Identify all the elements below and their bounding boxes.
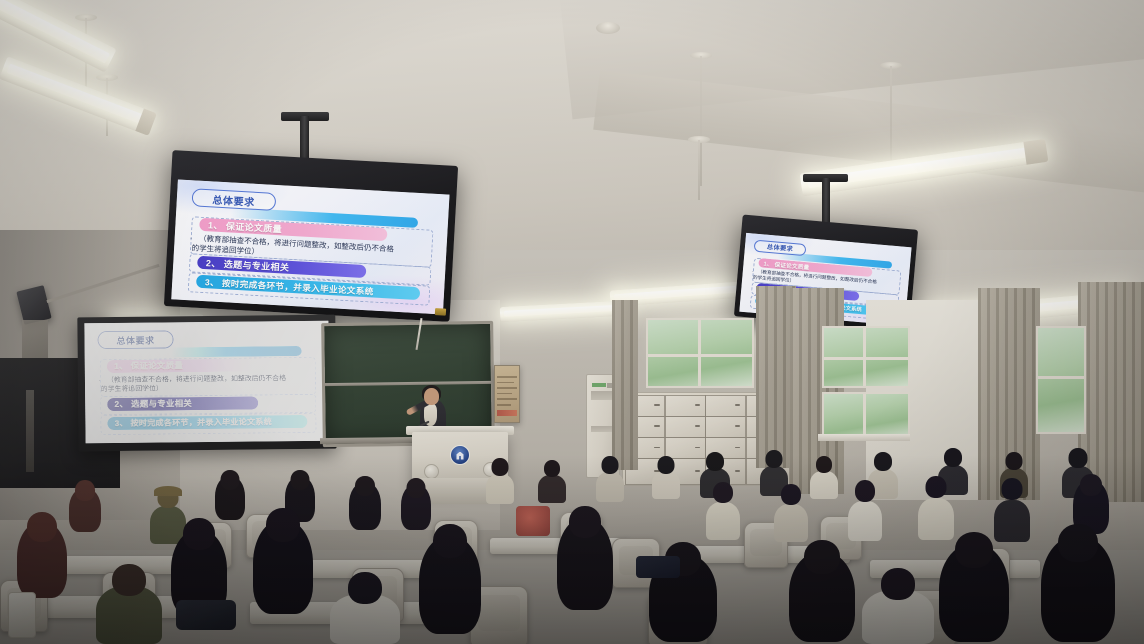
student-seated: [652, 456, 680, 498]
ac-badge: [592, 383, 605, 387]
student-seated-front: [938, 532, 1010, 644]
slide-item-2: 2、 选题与专业相关: [107, 396, 258, 410]
light-endcap: [1023, 139, 1048, 165]
slide-item-3-num: 3、: [205, 276, 220, 289]
lecture-hall-photo: 总体要求 1、 保证论文质量 · （教育部抽查不合格，将进行问题整改，如整改后仍…: [0, 0, 1144, 644]
student-seated: [348, 476, 382, 534]
student-seated: [918, 476, 954, 538]
student-seated-front: [788, 540, 856, 644]
slide-bullet: ·: [98, 376, 100, 385]
slide-item-1-num: 1、: [208, 218, 223, 232]
student-seated: [706, 482, 740, 540]
student-seated-front: [1040, 524, 1116, 644]
student-seated: [68, 480, 102, 538]
water-bottle: [8, 592, 36, 638]
locker-door[interactable]: [705, 395, 746, 417]
university-emblem-icon: [450, 445, 470, 465]
light-rod: [890, 66, 892, 164]
student-seated: [848, 480, 882, 540]
locker-door[interactable]: [705, 416, 746, 438]
slide-item-2-num: 2、: [206, 256, 221, 270]
door-handle: [26, 390, 34, 472]
student-seated-front: [862, 568, 934, 644]
slide-item-1-num: 1、: [114, 360, 128, 372]
smoke-detector-icon: [596, 22, 620, 34]
student-cap: [154, 486, 182, 496]
student-seated-front: [330, 572, 400, 644]
projected-slide: 总体要求 1、 保证论文质量 · （教育部抽查不合格，将进行问题整改，如整改后仍…: [84, 321, 329, 444]
wall-notice-poster: [494, 365, 520, 423]
slide-body: · （教育部抽查不合格，将进行问题整改，如整改后仍不合格 的学生将追回学位）: [107, 374, 317, 395]
light-rod: [698, 140, 700, 200]
slide-item-1-text: 保证论文质量: [131, 360, 183, 373]
classroom-window: [1036, 326, 1086, 434]
slide-item-2-num: 2、: [114, 398, 128, 410]
student-seated: [994, 478, 1030, 540]
student-bag: [636, 556, 680, 578]
student-seated: [538, 460, 566, 502]
projection-screen: 总体要求 1、 保证论文质量 · （教育部抽查不合格，将进行问题整改，如整改后仍…: [77, 315, 336, 452]
light-rod: [700, 56, 702, 186]
slide-item-3: 3、 按时完成各环节，并录入毕业论文系统: [107, 415, 307, 430]
tv-screen: 总体要求 1、 保证论文质量 · （教育部抽查不合格，将进行问题整改，如整改后仍…: [171, 179, 449, 314]
student-seated: [810, 456, 838, 498]
slide-item-3-num: 3、: [115, 418, 128, 429]
window-curtain: [612, 300, 638, 470]
poster-red-band: [497, 410, 517, 416]
student-seated-front: [252, 508, 314, 620]
tv-brand-logo: [435, 308, 446, 316]
student-seated-front: [556, 506, 614, 616]
student-seated-front: [418, 524, 482, 640]
lecturer-head: [424, 388, 439, 405]
chalkboard-divider: [325, 380, 491, 385]
student-bag: [176, 600, 236, 630]
student-shirt-graphic: [516, 506, 550, 536]
slide-item-1: 1、 保证论文质量: [107, 358, 275, 372]
slide-item-2-text: 选题与专业相关: [131, 397, 192, 410]
classroom-window: [822, 392, 910, 438]
classroom-window: [822, 326, 910, 388]
fluorescent-tube: [503, 305, 614, 317]
locker-door[interactable]: [665, 395, 706, 417]
projection-surface: 总体要求 1、 保证论文质量 · （教育部抽查不合格，将进行问题整改，如整改后仍…: [84, 321, 329, 444]
window-sill: [818, 434, 910, 441]
presentation-slide: 总体要求 1、 保证论文质量 · （教育部抽查不合格，将进行问题整改，如整改后仍…: [171, 179, 449, 314]
fluorescent-tube: [614, 286, 738, 301]
locker-door[interactable]: [665, 416, 706, 438]
student-seated: [774, 484, 808, 542]
tv-mount-pole: [822, 178, 830, 224]
ceiling-tv-left: 总体要求 1、 保证论文质量 · （教育部抽查不合格，将进行问题整改，如整改后仍…: [164, 150, 458, 322]
classroom-window: [646, 318, 754, 388]
student-seated: [486, 458, 514, 502]
slide-title: 总体要求: [98, 331, 173, 349]
student-seated: [596, 456, 624, 500]
slide-item-3-text: 按时完成各环节，并录入毕业论文系统: [131, 417, 273, 429]
slide-item-1-num: 1、: [763, 259, 773, 268]
student-seated-front: [96, 564, 162, 644]
